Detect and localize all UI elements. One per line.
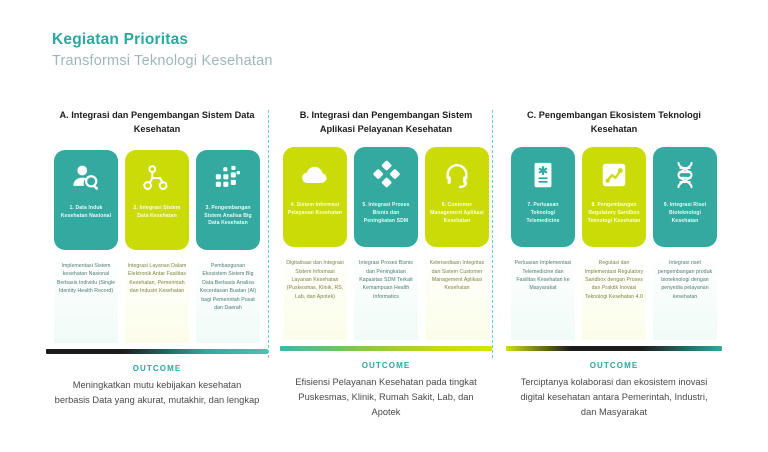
cloud-icon: [300, 160, 330, 190]
column-b: B. Integrasi dan Pengembangan Sistem Apl…: [268, 108, 492, 420]
card-1-label: 1. Data Induk Kesehatan Nasional: [54, 205, 118, 220]
caption-8: Regulasi dan Implementasi Regulatory San…: [582, 252, 646, 340]
column-b-gradient-bar: [280, 346, 492, 351]
card-2-label: 2. Integrasi Sistem Data Kesehatan: [125, 205, 189, 220]
column-c-captions: Perluasan Implementasi Telemedicine dan …: [506, 252, 722, 340]
card-3-label: 3. Pengembangan Sistem Analisa Big Data …: [196, 205, 260, 228]
column-b-heading: B. Integrasi dan Pengembangan Sistem Apl…: [280, 108, 492, 143]
caption-5: Integrasi Proses Bisnis dan Peningkatan …: [354, 252, 418, 340]
card-1[interactable]: 1. Data Induk Kesehatan Nasional: [54, 150, 118, 250]
caption-3: Pembangunan Ekosistem Sistem Big Data Be…: [196, 255, 260, 343]
header: Kegiatan Prioritas Transformsi Teknologi…: [52, 30, 273, 71]
caption-4: Digitalisasi dan Integrasi Sistem Inform…: [283, 252, 347, 340]
column-b-outcome: OUTCOME Efisiensi Pelayanan Kesehatan pa…: [280, 361, 492, 420]
column-c: C. Pengembangan Ekosistem Teknologi Kese…: [492, 108, 722, 420]
column-c-heading: C. Pengembangan Ekosistem Teknologi Kese…: [506, 108, 722, 143]
column-c-outcome: OUTCOME Terciptanya kolaborasi dan ekosi…: [506, 361, 722, 420]
card-5-label: 5. Integrasi Proses Bisnis dan Peningkat…: [354, 202, 418, 225]
card-3[interactable]: 3. Pengembangan Sistem Analisa Big Data …: [196, 150, 260, 250]
card-5[interactable]: 5. Integrasi Proses Bisnis dan Peningkat…: [354, 147, 418, 247]
outcome-label-a: OUTCOME: [54, 364, 260, 373]
regulatory-chart-icon: [599, 160, 629, 190]
column-c-gradient-bar: [506, 346, 722, 351]
caption-2: Integrasi Layanan Dalam Elektronik Antar…: [125, 255, 189, 343]
column-a-gradient-bar: [46, 349, 268, 354]
card-4-label: 4. Sistem Informasi Pelayanan Kesehatan: [283, 202, 347, 217]
card-9-label: 9. Integrasi Riset Bioteknologi Kesehata…: [653, 202, 717, 225]
column-a: A. Integrasi dan Pengembangan Sistem Dat…: [46, 108, 268, 420]
page-subtitle: Transformsi Teknologi Kesehatan: [52, 52, 273, 70]
card-7-label: 7. Perluasan Teknologi Telemedicine: [511, 202, 575, 225]
caption-1: Implementasi Sistem kesehatan Nasional B…: [54, 255, 118, 343]
caption-6: Ketersediaan Integritas dan Sistem Custo…: [425, 252, 489, 340]
page-title: Kegiatan Prioritas: [52, 30, 273, 49]
diamond-modules-icon: [371, 160, 401, 190]
outcome-text-c: Terciptanya kolaborasi dan ekosistem ino…: [514, 375, 714, 420]
column-a-heading: A. Integrasi dan Pengembangan Sistem Dat…: [46, 108, 268, 146]
card-6[interactable]: 6. Customer Management Aplikasi Kesehata…: [425, 147, 489, 247]
column-a-cards: 1. Data Induk Kesehatan Nasional 2. Inte…: [46, 150, 268, 250]
user-search-icon: [71, 163, 101, 193]
card-2[interactable]: 2. Integrasi Sistem Data Kesehatan: [125, 150, 189, 250]
card-8-label: 8. Pengembangan Regulatory Sandbox Tekno…: [582, 202, 646, 225]
card-7[interactable]: 7. Perluasan Teknologi Telemedicine: [511, 147, 575, 247]
columns-container: A. Integrasi dan Pengembangan Sistem Dat…: [46, 108, 722, 420]
caption-9: Integrasi riset pengembangan produk biot…: [653, 252, 717, 340]
network-nodes-icon: [142, 163, 172, 193]
outcome-text-b: Efisiensi Pelayanan Kesehatan pada tingk…: [288, 375, 484, 420]
column-a-outcome: OUTCOME Meningkatkan mutu kebijakan kese…: [46, 364, 268, 408]
card-4[interactable]: 4. Sistem Informasi Pelayanan Kesehatan: [283, 147, 347, 247]
headset-support-icon: [442, 160, 472, 190]
card-6-label: 6. Customer Management Aplikasi Kesehata…: [425, 202, 489, 225]
card-8[interactable]: 8. Pengembangan Regulatory Sandbox Tekno…: [582, 147, 646, 247]
outcome-text-a: Meningkatkan mutu kebijakan kesehatan be…: [54, 378, 260, 408]
column-a-captions: Implementasi Sistem kesehatan Nasional B…: [46, 255, 268, 343]
dna-helix-icon: [670, 160, 700, 190]
medical-document-icon: [528, 160, 558, 190]
column-c-cards: 7. Perluasan Teknologi Telemedicine 8. P…: [506, 147, 722, 247]
data-grid-icon: [213, 163, 243, 193]
outcome-label-b: OUTCOME: [288, 361, 484, 370]
caption-7: Perluasan Implementasi Telemedicine dan …: [511, 252, 575, 340]
outcome-label-c: OUTCOME: [514, 361, 714, 370]
infographic-page: Kegiatan Prioritas Transformsi Teknologi…: [0, 0, 768, 452]
card-9[interactable]: 9. Integrasi Riset Bioteknologi Kesehata…: [653, 147, 717, 247]
column-b-cards: 4. Sistem Informasi Pelayanan Kesehatan …: [280, 147, 492, 247]
column-b-captions: Digitalisasi dan Integrasi Sistem Inform…: [280, 252, 492, 340]
